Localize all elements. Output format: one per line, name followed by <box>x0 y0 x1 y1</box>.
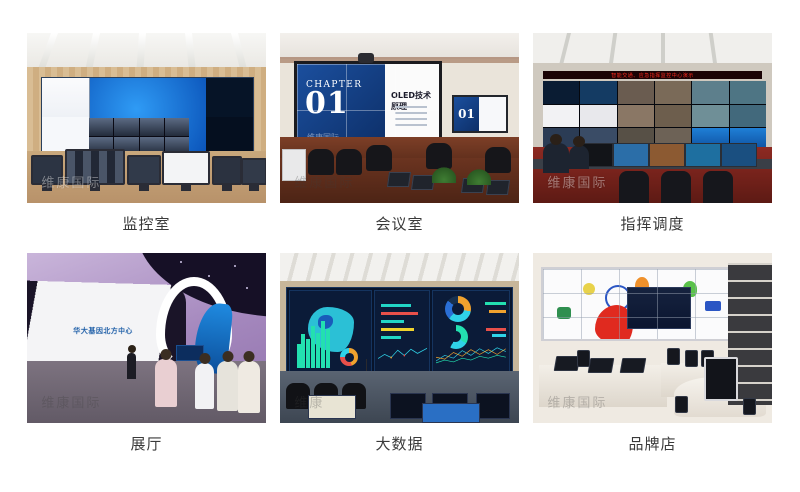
gallery-item-meeting-room[interactable]: CHAPTER 01 维康国际 OLED技术原理 01 <box>280 33 519 245</box>
presenter-figure <box>127 353 136 379</box>
side-display: 01 <box>452 95 508 133</box>
featured-tablet <box>704 357 738 401</box>
scene-brand-store: 维康国际 <box>533 253 772 423</box>
scene-command-dispatch: 智能交通、应急指挥监控中心演示 <box>533 33 772 203</box>
data-video-wall <box>286 287 513 375</box>
caption-brand-store: 品牌店 <box>533 423 772 465</box>
scene-big-data: 维康 <box>280 253 519 423</box>
caption-meeting-room: 会议室 <box>280 203 519 245</box>
scene-monitoring-room: 维康国际 <box>27 33 266 203</box>
caption-big-data: 大数据 <box>280 423 519 465</box>
wall-control-panel <box>282 149 306 181</box>
caption-exhibition-hall: 展厅 <box>27 423 266 465</box>
pane-map <box>289 290 372 372</box>
scene-meeting-room: CHAPTER 01 维康国际 OLED技术原理 01 <box>280 33 519 203</box>
side-display-content <box>479 97 506 131</box>
photo-gallery-grid: 维康国际 监控室 CHAPTER 01 维康国际 OLED技术原理 <box>27 33 773 465</box>
ceiling <box>27 33 266 71</box>
gallery-item-command-dispatch[interactable]: 智能交通、应急指挥监控中心演示 <box>533 33 772 245</box>
trend-lines <box>436 344 506 365</box>
desk-monitor <box>162 151 210 185</box>
photo-meeting-room[interactable]: CHAPTER 01 维康国际 OLED技术原理 01 <box>280 33 519 203</box>
pane-donuts <box>432 290 510 372</box>
desk-monitor <box>65 149 125 185</box>
scene-exhibition-hall: 华大基因北方中心 维康国际 <box>27 253 266 423</box>
pane-bars <box>374 290 430 372</box>
photo-big-data[interactable]: 维康 <box>280 253 519 423</box>
scatter-plot <box>378 344 427 365</box>
gallery-item-monitoring-room[interactable]: 维康国际 监控室 <box>27 33 266 245</box>
caption-command-dispatch: 指挥调度 <box>533 203 772 245</box>
desk-monitor <box>31 155 63 185</box>
vw-panel-dashboard <box>42 78 90 117</box>
desk-monitor <box>127 155 161 185</box>
conference-camera-icon <box>358 53 374 63</box>
ceiling <box>280 253 519 283</box>
side-display-chapter: 01 <box>454 97 479 131</box>
screen-text: 华大基因北方中心 <box>73 326 133 336</box>
gallery-item-big-data[interactable]: 维康 大数据 <box>280 253 519 465</box>
photo-brand-store[interactable]: 维康国际 <box>533 253 772 423</box>
bezel-grid <box>543 269 729 339</box>
ceiling <box>280 33 519 59</box>
caption-monitoring-room: 监控室 <box>27 203 266 245</box>
desk-monitor <box>212 156 242 185</box>
photo-exhibition-hall[interactable]: 华大基因北方中心 维康国际 <box>27 253 266 423</box>
video-wall <box>541 267 731 341</box>
desk-monitor <box>241 158 266 185</box>
photo-monitoring-room[interactable]: 维康国际 <box>27 33 266 203</box>
led-banner: 智能交通、应急指挥监控中心演示 <box>543 71 762 79</box>
vw-panel-data <box>206 78 253 117</box>
gallery-item-exhibition-hall[interactable]: 华大基因北方中心 维康国际 展厅 <box>27 253 266 465</box>
gallery-item-brand-store[interactable]: 维康国际 品牌店 <box>533 253 772 465</box>
photo-command-dispatch[interactable]: 智能交通、应急指挥监控中心演示 <box>533 33 772 203</box>
